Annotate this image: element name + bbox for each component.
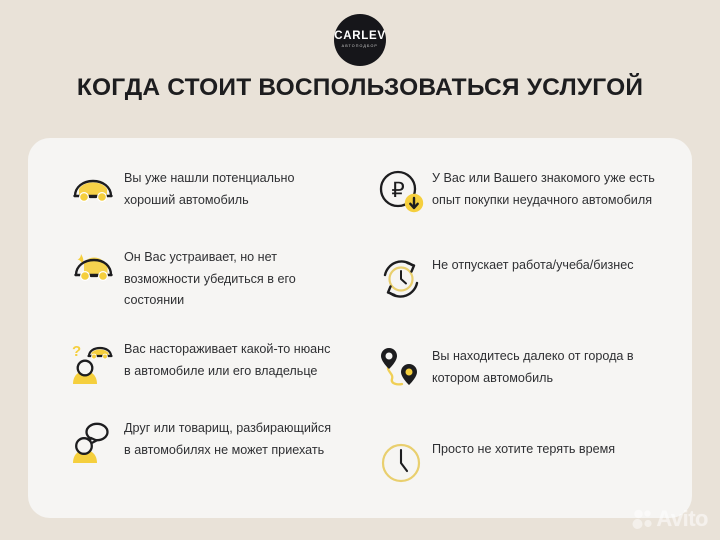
list-item-label: Он Вас устраивает, но нет возможности уб… xyxy=(124,243,339,312)
svg-text:₽: ₽ xyxy=(391,179,404,202)
list-item-label: Вы уже нашли потенциально хороший автомо… xyxy=(124,164,339,211)
list-item-label: Друг или товарищ, разбирающийся в автомо… xyxy=(124,414,339,461)
list-item: ? Вас настораживает какой-то нюанс в авт… xyxy=(62,335,352,391)
ruble-down-icon: ₽ xyxy=(370,164,432,220)
list-item-label: Вас настораживает какой-то нюанс в автом… xyxy=(124,335,339,382)
list-item: Он Вас устраивает, но нет возможности уб… xyxy=(62,243,352,312)
avito-watermark: Avito xyxy=(632,506,708,532)
benefits-card: Вы уже нашли потенциально хороший автомо… xyxy=(28,138,692,518)
logo-tagline: АВТОПОДБОР xyxy=(342,45,378,49)
benefits-left-column: Вы уже нашли потенциально хороший автомо… xyxy=(28,148,360,518)
clock-icon xyxy=(370,435,432,491)
list-item-label: Просто не хотите терять время xyxy=(432,435,615,461)
list-item: ₽ У Вас или Вашего знакомого уже есть оп… xyxy=(370,164,682,220)
logo-wordmark: CARLEV xyxy=(334,31,385,43)
person-question-car-icon: ? xyxy=(62,335,124,391)
benefits-columns: Вы уже нашли потенциально хороший автомо… xyxy=(28,148,692,518)
list-item-label: У Вас или Вашего знакомого уже есть опыт… xyxy=(432,164,660,211)
page-title: КОГДА СТОИТ ВОСПОЛЬЗОВАТЬСЯ УСЛУГОЙ xyxy=(0,74,720,102)
list-item: Вы находитесь далеко от города в котором… xyxy=(370,342,682,398)
car-icon xyxy=(62,164,124,220)
logo-circle: CARLEV АВТОПОДБОР xyxy=(334,14,386,66)
list-item: Друг или товарищ, разбирающийся в автомо… xyxy=(62,414,352,470)
person-speech-bubble-icon xyxy=(62,414,124,470)
brand-logo: CARLEV АВТОПОДБОР xyxy=(0,14,720,66)
list-item: Не отпускает работа/учеба/бизнес xyxy=(370,251,682,307)
svg-text:?: ? xyxy=(72,343,81,360)
clock-refresh-icon xyxy=(370,251,432,307)
car-spark-icon xyxy=(62,243,124,299)
avito-dots-icon xyxy=(632,508,654,530)
benefits-right-column: ₽ У Вас или Вашего знакомого уже есть оп… xyxy=(360,148,692,518)
list-item-label: Вы находитесь далеко от города в котором… xyxy=(432,342,660,389)
map-pins-route-icon xyxy=(370,342,432,398)
avito-label: Avito xyxy=(656,506,708,532)
list-item-label: Не отпускает работа/учеба/бизнес xyxy=(432,251,634,277)
list-item: Вы уже нашли потенциально хороший автомо… xyxy=(62,164,352,220)
list-item: Просто не хотите терять время xyxy=(370,435,682,491)
